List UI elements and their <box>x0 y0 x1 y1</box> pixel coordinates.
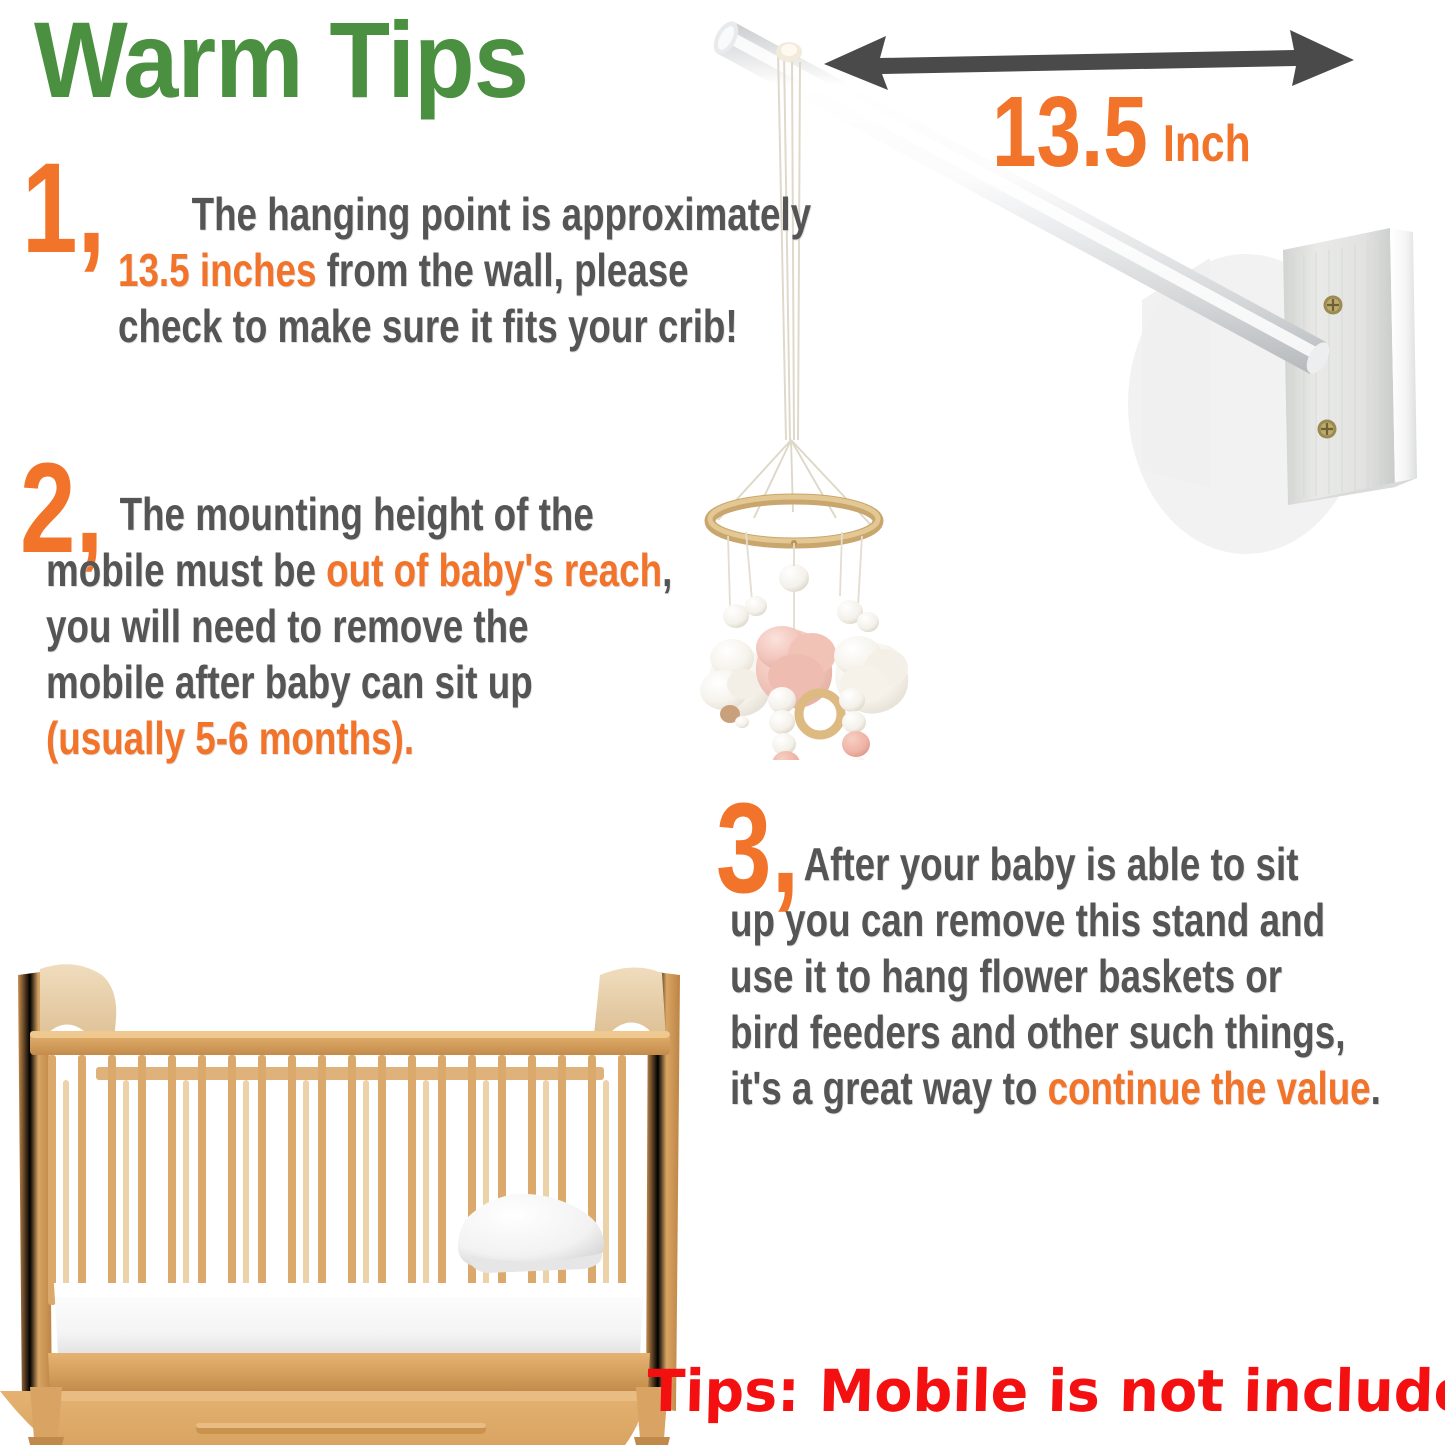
mount-screw-bottom <box>1318 420 1337 439</box>
infographic-page: 13.5 Inch Warm Tips 1, The hanging point… <box>0 0 1445 1445</box>
tip-text-2: The mounting height of themobile must be… <box>46 486 734 767</box>
tip-text-run: The mounting height of the <box>120 488 594 540</box>
tip-text-run: use it to hang flower baskets or <box>730 950 1282 1002</box>
tip-line: 13.5 inches from the wall, please <box>118 242 918 298</box>
tip-text-1: The hanging point is approximately13.5 i… <box>118 186 918 354</box>
tip-text-run: After your baby is able to sit <box>804 838 1299 890</box>
tip-text-run: , <box>662 544 672 596</box>
tip-text-run: check to make sure it fits your crib! <box>118 300 738 352</box>
page-title: Warm Tips <box>34 6 528 114</box>
tip-highlight: 13.5 inches <box>118 244 316 296</box>
mobile-wooden-ring <box>710 497 878 546</box>
tip-line: mobile must be out of baby's reach, <box>46 542 734 598</box>
mobile-bead <box>779 564 809 592</box>
tip-line: The mounting height of the <box>46 486 734 542</box>
tip-line: (usually 5-6 months). <box>46 710 734 766</box>
tip-number-1: 1, <box>22 150 105 268</box>
tip-highlight: continue the value <box>1048 1062 1371 1114</box>
mobile-charm-center <box>756 626 841 760</box>
tip-text-run: up you can remove this stand and <box>730 894 1325 946</box>
tip-line: The hanging point is approximately <box>118 186 918 242</box>
dimension-value: 13.5 <box>992 82 1148 182</box>
not-included-note: Tips: Mobile is not included <box>647 1362 1445 1420</box>
tip-highlight: (usually 5-6 months). <box>46 712 414 764</box>
tip-line: bird feeders and other such things, <box>730 1004 1445 1060</box>
crib-pillow <box>458 1194 604 1273</box>
dimension-unit: Inch <box>1163 118 1251 170</box>
tip-text-run: bird feeders and other such things, <box>730 1006 1345 1058</box>
tip-line: check to make sure it fits your crib! <box>118 298 918 354</box>
tip-text-run: you will need to remove the <box>46 600 529 652</box>
tip-text-run: . <box>1371 1062 1381 1114</box>
tip-text-run: from the wall, please <box>316 244 688 296</box>
tip-text-run: it's a great way to <box>730 1062 1048 1114</box>
tip-line: mobile after baby can sit up <box>46 654 734 710</box>
mobile-charm-right <box>834 600 908 760</box>
tip-line: After your baby is able to sit <box>730 836 1445 892</box>
tip-line: use it to hang flower baskets or <box>730 948 1445 1004</box>
tip-line: it's a great way to continue the value. <box>730 1060 1445 1116</box>
tip-text-3: After your baby is able to situp you can… <box>730 836 1445 1117</box>
tip-highlight: out of baby's reach <box>326 544 662 596</box>
tip-line: you will need to remove the <box>46 598 734 654</box>
baby-crib-photo <box>0 955 700 1445</box>
tip-line: up you can remove this stand and <box>730 892 1445 948</box>
mount-screw-top <box>1324 296 1343 315</box>
tip-text-run: mobile after baby can sit up <box>46 656 533 708</box>
tip-text-run: The hanging point is approximately <box>192 188 812 240</box>
crib-front-panel <box>48 1353 650 1391</box>
tip-text-run: mobile must be <box>46 544 326 596</box>
